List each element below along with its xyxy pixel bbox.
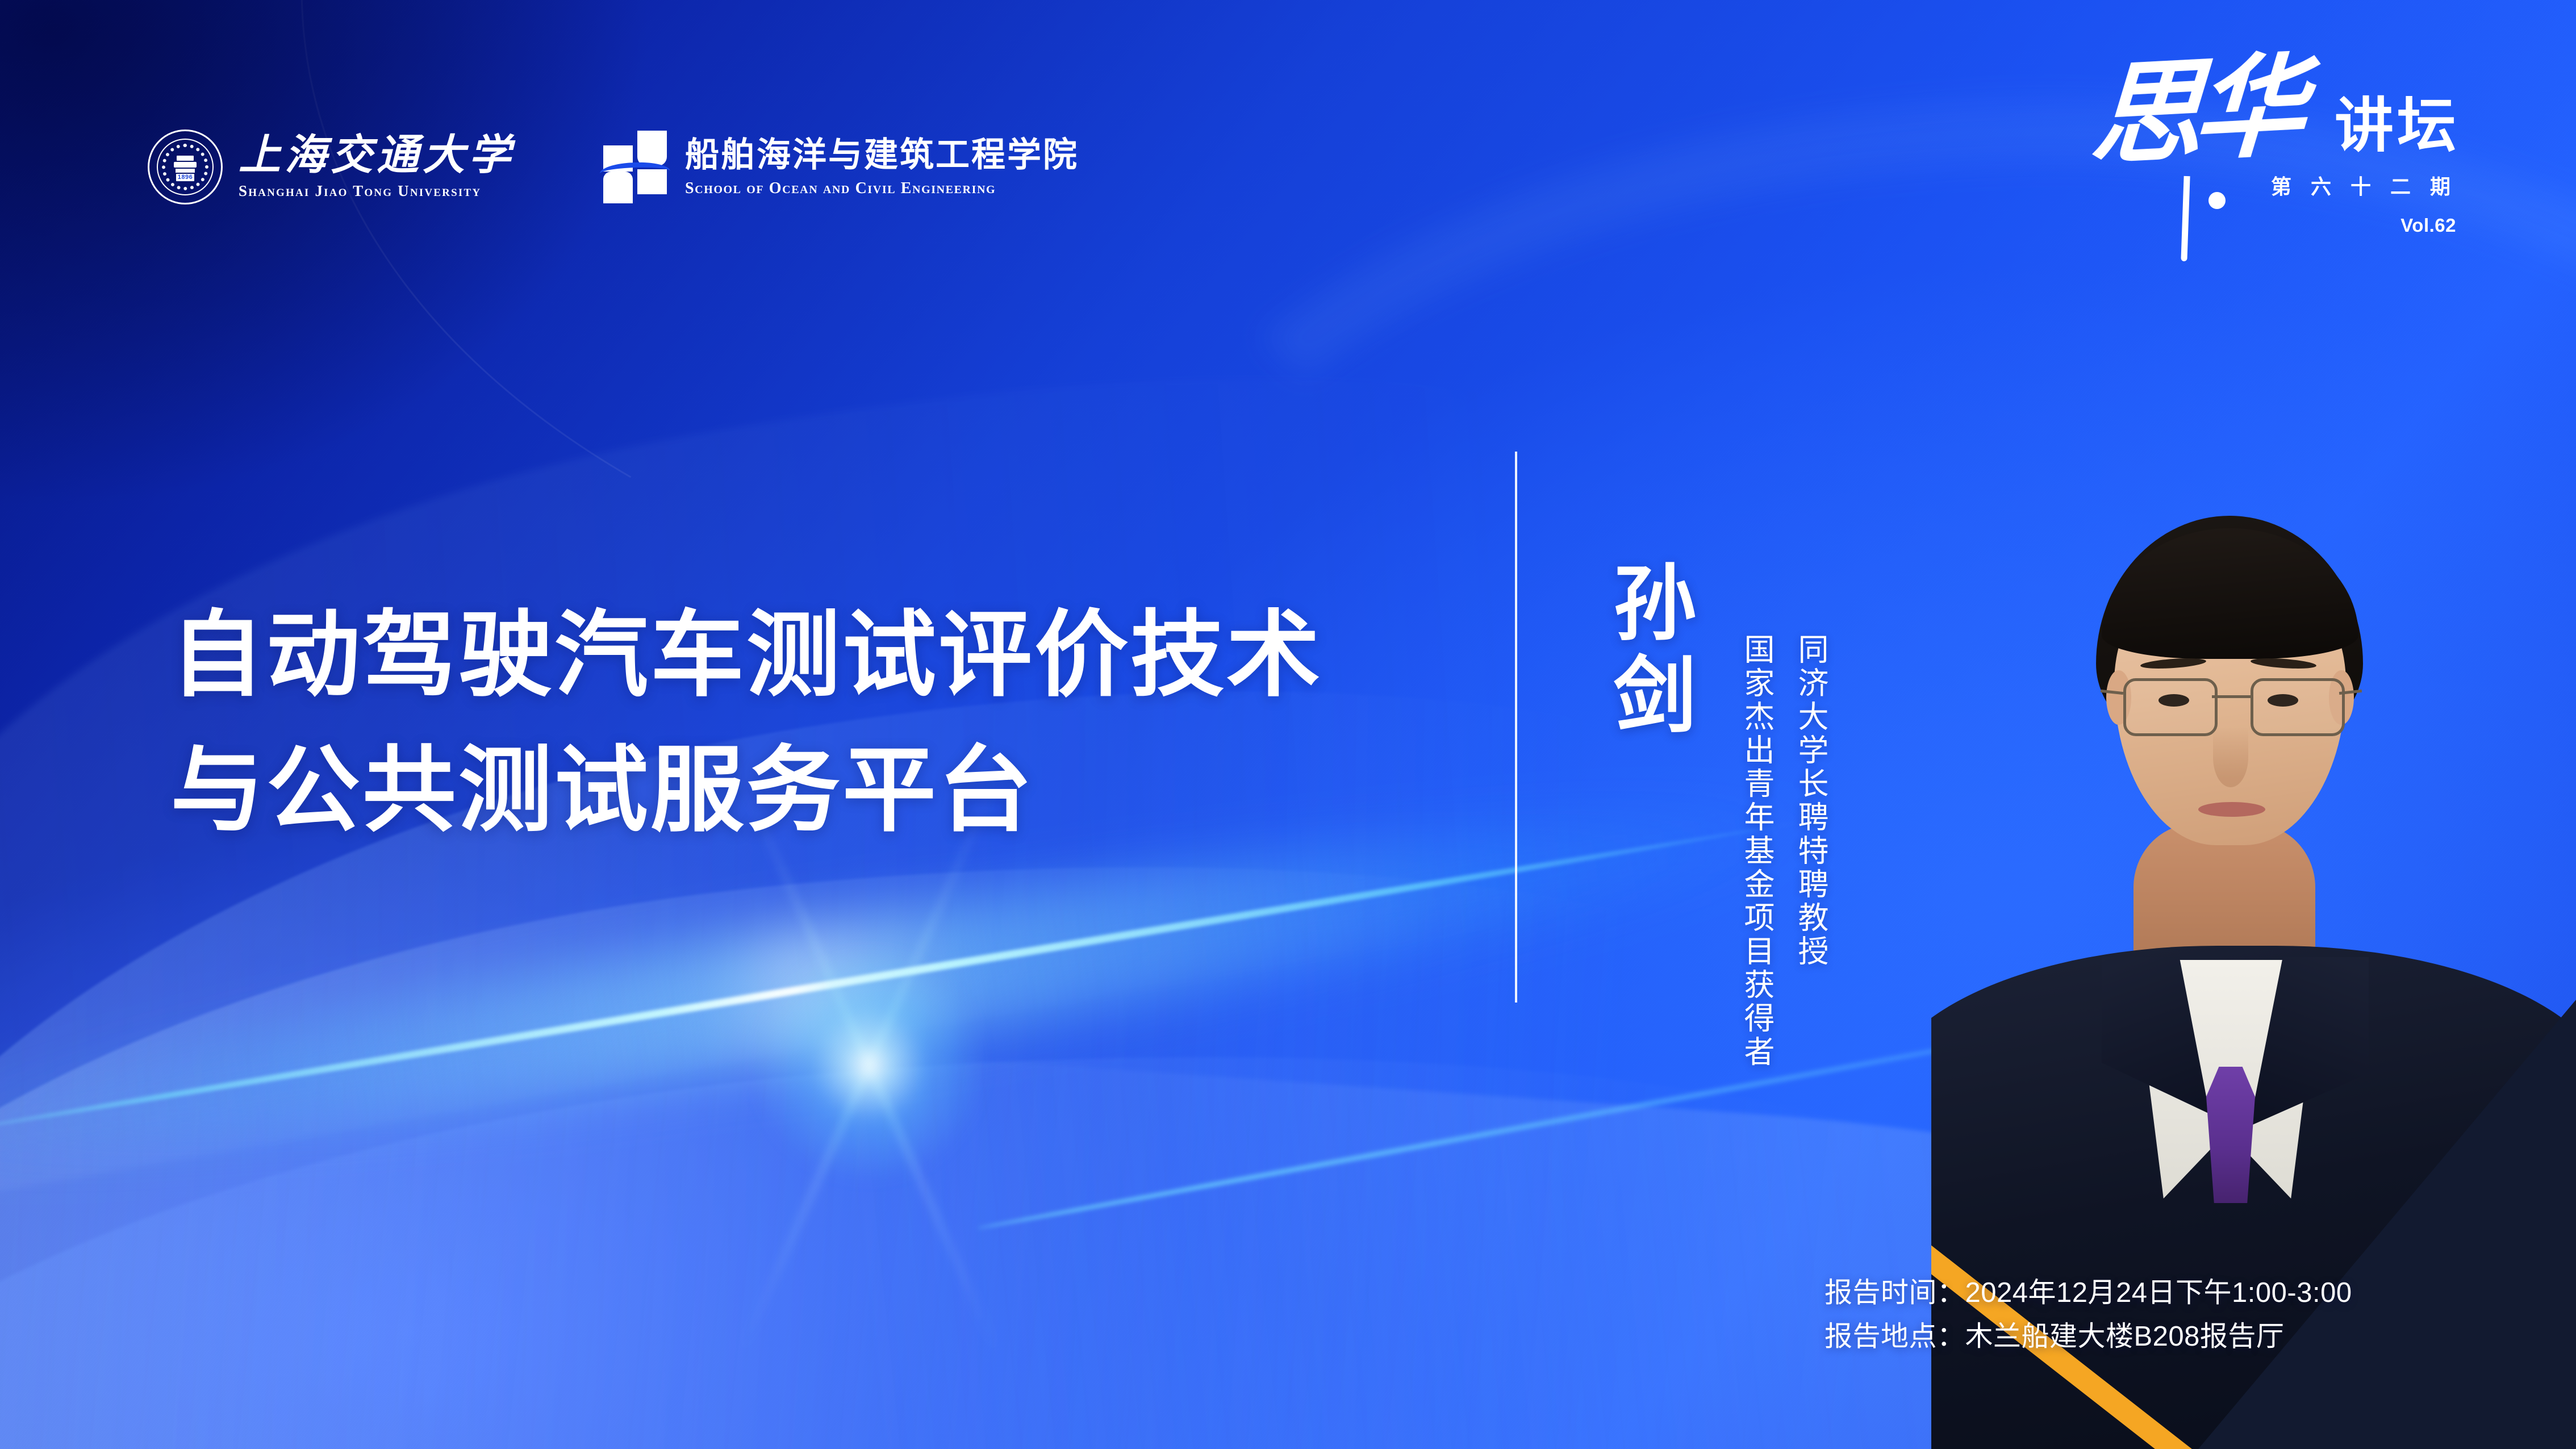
forum-issue-number: 第 六 十 二 期 xyxy=(2271,170,2460,200)
glasses-lens-right xyxy=(2251,678,2345,736)
seal-books-icon xyxy=(177,156,194,161)
school-name-cn: 船舶海洋与建筑工程学院 xyxy=(685,137,1079,173)
forum-brand-text: 讲坛 第 六 十 二 期 Vol.62 xyxy=(2271,62,2460,236)
sjtu-seal-icon: 1896 xyxy=(148,130,223,204)
seal-anvil-icon xyxy=(174,162,197,168)
event-time: 报告时间：2024年12月24日下午1:00-3:00 xyxy=(1825,1271,2352,1315)
speaker-name: 孙剑 xyxy=(1602,559,1698,744)
forum-brand: 思华 讲坛 第 六 十 二 期 Vol.62 xyxy=(2091,62,2460,236)
forum-calligraphy-dot xyxy=(2208,192,2226,209)
university-logo-lockup: 1896 上海交通大学 Shanghai Jiao Tong Universit… xyxy=(148,130,515,204)
university-name-en: Shanghai Jiao Tong University xyxy=(239,182,481,200)
portrait-necktie xyxy=(2206,1067,2255,1203)
seal-emblem-icon: 1896 xyxy=(169,153,202,185)
portrait-hair-fringe xyxy=(2102,528,2358,659)
portrait-nose xyxy=(2213,727,2248,787)
glasses-bridge xyxy=(2212,695,2251,698)
university-name-cn: 上海交通大学 xyxy=(239,135,515,177)
school-mark-icon xyxy=(600,131,670,203)
event-details: 报告时间：2024年12月24日下午1:00-3:00 报告地点：木兰船建大楼B… xyxy=(1825,1271,2352,1359)
speaker-credential-primary: 同济大学长聘特聘教授 xyxy=(1795,633,1826,968)
speaker-credential-secondary: 国家杰出青年基金项目获得者 xyxy=(1741,633,1772,1069)
seal-founding-year: 1896 xyxy=(176,174,194,181)
forum-volume-label: Vol.62 xyxy=(2400,215,2460,236)
school-name-en: School of Ocean and Civil Engineering xyxy=(685,179,996,198)
forum-calligraphy-text: 思华 xyxy=(2088,54,2260,174)
event-location: 报告地点：木兰船建大楼B208报告厅 xyxy=(1825,1315,2352,1359)
forum-calligraphy-logo: 思华 xyxy=(2091,62,2256,233)
talk-title-line-1: 自动驾驶汽车测试评价技术 xyxy=(170,588,1322,723)
vertical-divider xyxy=(1515,452,1517,1003)
university-wordmark: 上海交通大学 Shanghai Jiao Tong University xyxy=(239,135,515,200)
portrait-mouth xyxy=(2198,802,2265,817)
talk-title-line-2: 与公共测试服务平台 xyxy=(170,723,1322,858)
glasses-lens-left xyxy=(2123,678,2218,736)
seal-base-icon xyxy=(176,169,195,173)
forum-title-block: 讲坛 xyxy=(2335,97,2460,156)
school-logo-lockup: 船舶海洋与建筑工程学院 School of Ocean and Civil En… xyxy=(600,131,1079,203)
school-wordmark: 船舶海洋与建筑工程学院 School of Ocean and Civil En… xyxy=(685,137,1079,198)
header-logo-bar: 1896 上海交通大学 Shanghai Jiao Tong Universit… xyxy=(148,130,1079,204)
lecture-poster: 1896 上海交通大学 Shanghai Jiao Tong Universit… xyxy=(0,0,2576,1449)
school-mark-block-top-right xyxy=(637,131,667,166)
talk-title: 自动驾驶汽车测试评价技术 与公共测试服务平台 xyxy=(170,588,1322,858)
